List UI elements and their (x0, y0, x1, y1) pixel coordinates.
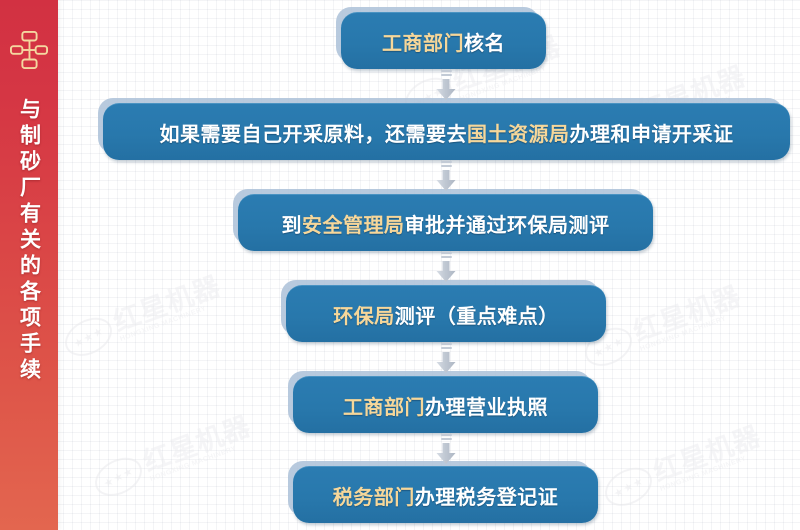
flow-node-3-segment-3: 审批并通过环保局测评 (405, 209, 610, 238)
arrow-1-2-icon (435, 70, 457, 101)
connector-dash (441, 70, 452, 72)
connector-dash (441, 256, 452, 258)
flow-node-6[interactable]: 税务部门办理税务登记证 (293, 466, 598, 523)
connector-dash (441, 434, 452, 436)
flow-node-4-segment-1: 环保局 (333, 300, 395, 329)
flow-node-1-segment-2: 核名 (464, 27, 505, 56)
flow-node-1[interactable]: 工商部门核名 (341, 12, 546, 69)
connector-dash (441, 161, 452, 163)
arrow-down-icon (435, 261, 457, 283)
flow-node-2-segment-2: 国土资源局 (467, 118, 570, 147)
sidebar-title: 与制砂厂有关的各项手续 (19, 98, 40, 384)
arrow-down-icon (435, 352, 457, 374)
connector-dash (441, 252, 452, 254)
flow-node-2-segment-3: 办理和申请开采证 (570, 118, 734, 147)
arrow-down-icon (435, 79, 457, 101)
flow-node-6-segment-2: 办理税务登记证 (415, 481, 559, 510)
flow-node-5[interactable]: 工商部门办理营业执照 (293, 376, 598, 433)
connector-dash (441, 165, 452, 167)
arrow-down-icon (435, 170, 457, 192)
flow-node-3-segment-2: 安全管理局 (302, 209, 405, 238)
arrow-down-icon (435, 443, 457, 465)
flowchart-canvas: ★★★ 红星机器 HONGXING MACHINERY ★★★ 红星机器 HON… (0, 0, 800, 530)
flow-node-3[interactable]: 到安全管理局审批并通过环保局测评 (238, 194, 653, 251)
flow-node-5-segment-2: 办理营业执照 (425, 391, 548, 420)
connector-dash (441, 347, 452, 349)
flow-node-4[interactable]: 环保局测评（重点难点） (286, 285, 606, 342)
flow-diagram: 工商部门核名如果需要自己开采原料，还需要去国土资源局办理和申请开采证到安全管理局… (58, 0, 800, 530)
flow-node-2[interactable]: 如果需要自己开采原料，还需要去国土资源局办理和申请开采证 (103, 103, 790, 160)
flow-node-5-segment-1: 工商部门 (343, 391, 425, 420)
org-chart-icon (10, 30, 48, 70)
arrow-4-5-icon (435, 343, 457, 374)
arrow-2-3-icon (435, 161, 457, 192)
arrow-3-4-icon (435, 252, 457, 283)
connector-dash (441, 343, 452, 345)
flow-node-3-segment-1: 到 (282, 209, 303, 238)
flow-node-4-segment-2: 测评（重点难点） (395, 300, 559, 329)
connector-dash (441, 74, 452, 76)
flow-node-6-segment-1: 税务部门 (333, 481, 415, 510)
flow-node-1-segment-1: 工商部门 (382, 27, 464, 56)
sidebar-banner: 与制砂厂有关的各项手续 (0, 0, 58, 530)
connector-dash (441, 438, 452, 440)
flow-node-2-segment-1: 如果需要自己开采原料，还需要去 (160, 118, 468, 147)
arrow-5-6-icon (435, 434, 457, 465)
